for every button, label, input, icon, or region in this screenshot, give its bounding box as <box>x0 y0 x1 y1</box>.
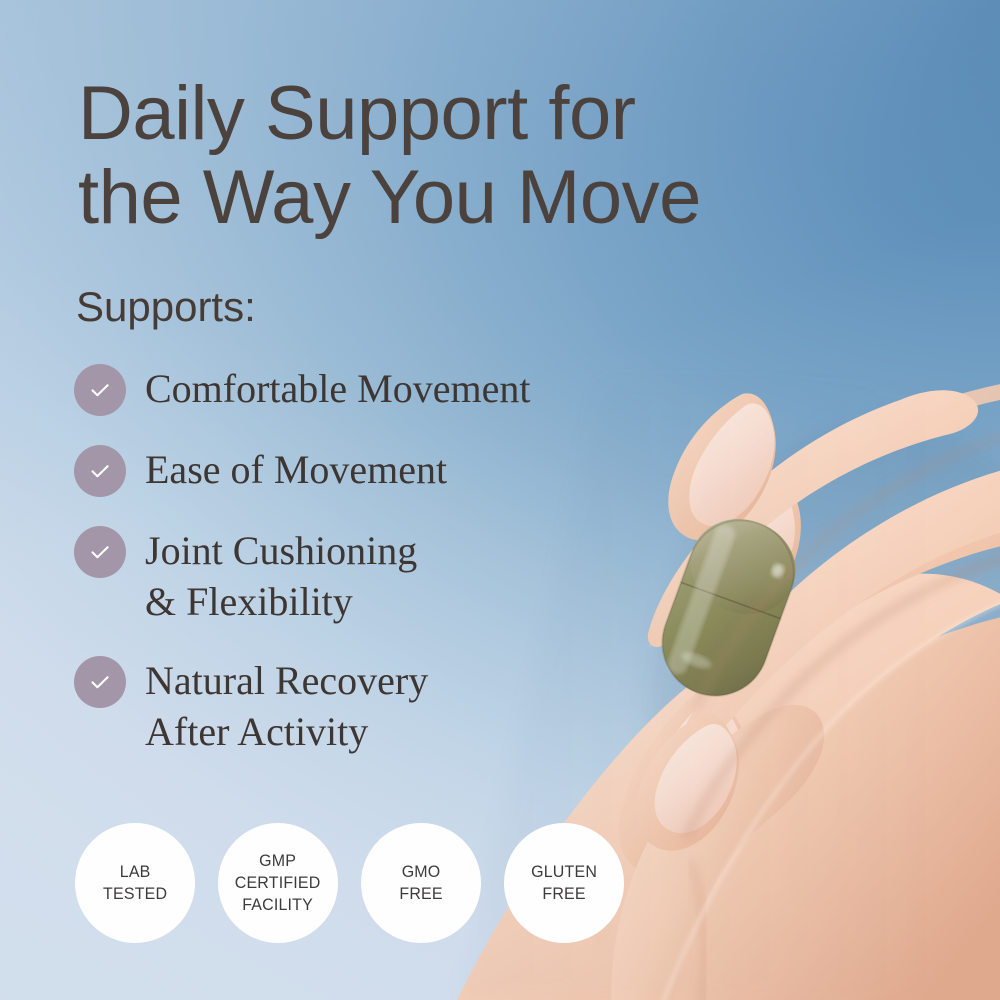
certification-badges: LAB TESTED GMP CERTIFIED FACILITY GMO FR… <box>75 823 624 943</box>
benefit-label: Joint Cushioning & Flexibility <box>145 524 417 627</box>
benefit-label: Comfortable Movement <box>145 362 530 414</box>
list-item: Joint Cushioning & Flexibility <box>74 524 694 627</box>
check-icon <box>74 445 126 497</box>
benefits-list: Comfortable Movement Ease of Movement Jo… <box>74 362 694 757</box>
cert-badge-label: GMO FREE <box>399 861 442 905</box>
cert-badge-lab-tested: LAB TESTED <box>75 823 195 943</box>
check-icon <box>74 364 126 416</box>
list-item: Comfortable Movement <box>74 362 694 416</box>
check-icon <box>74 526 126 578</box>
cert-badge-label: LAB TESTED <box>103 861 167 905</box>
list-item: Natural Recovery After Activity <box>74 654 694 757</box>
cert-badge-gmp-certified-facility: GMP CERTIFIED FACILITY <box>218 823 338 943</box>
benefit-label: Natural Recovery After Activity <box>145 654 428 757</box>
cert-badge-label: GLUTEN FREE <box>531 861 597 905</box>
check-icon <box>74 656 126 708</box>
cert-badge-gmo-free: GMO FREE <box>361 823 481 943</box>
cert-badge-gluten-free: GLUTEN FREE <box>504 823 624 943</box>
benefit-label: Ease of Movement <box>145 443 447 495</box>
promo-graphic: Daily Support for the Way You Move Suppo… <box>0 0 1000 1000</box>
supports-label: Supports: <box>76 283 256 331</box>
cert-badge-label: GMP CERTIFIED FACILITY <box>235 850 321 916</box>
list-item: Ease of Movement <box>74 443 694 497</box>
page-title: Daily Support for the Way You Move <box>78 72 778 240</box>
